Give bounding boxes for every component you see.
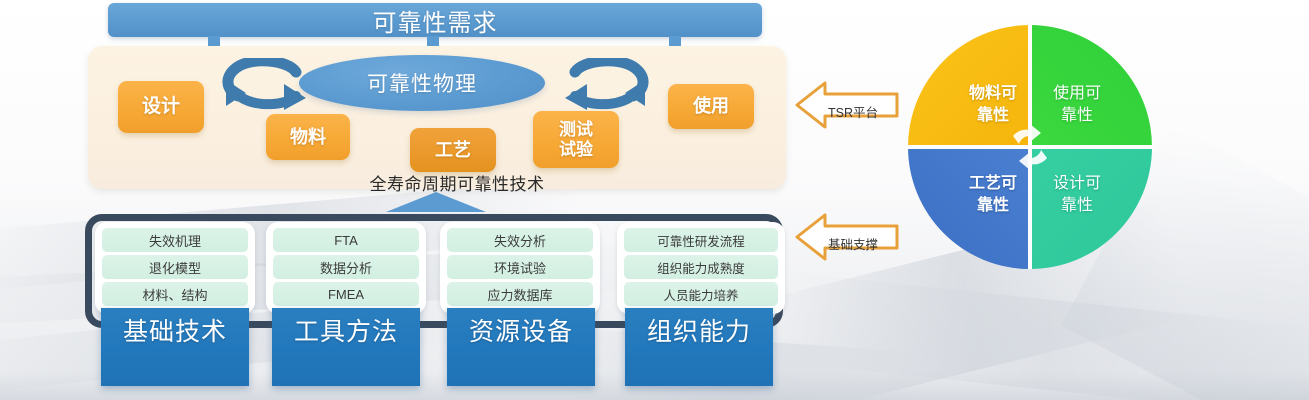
list-item[interactable]: 可靠性研发流程 — [624, 228, 778, 252]
reliability-physics-ellipse[interactable]: 可靠性物理 — [299, 55, 545, 111]
foundation-title-label: 资源设备 — [469, 312, 573, 348]
list-item[interactable]: FMEA — [273, 282, 419, 306]
usage-box-label: 使用 — [693, 96, 729, 116]
ellipse-label: 可靠性物理 — [367, 68, 477, 98]
foundation-title-label: 工具方法 — [294, 312, 398, 348]
foundation-title-label: 组织能力 — [647, 312, 751, 348]
reliability-requirement-banner[interactable]: 可靠性需求 — [108, 3, 762, 37]
foundation-card: FTA 数据分析 FMEA — [266, 222, 426, 314]
foundation-support-label: 基础支撑 — [828, 234, 878, 253]
process-box-label: 工艺 — [435, 140, 471, 160]
wheel-label-process: 工艺可靠性 — [956, 173, 1030, 216]
rotate-left-arrow-icon — [222, 58, 306, 114]
material-box[interactable]: 物料 — [266, 114, 350, 160]
list-item[interactable]: 人员能力培养 — [624, 282, 778, 306]
usage-box[interactable]: 使用 — [668, 84, 754, 129]
list-item[interactable]: 应力数据库 — [447, 282, 593, 306]
foundation-card: 失效机理 退化模型 材料、结构 — [95, 222, 255, 314]
list-item[interactable]: 材料、结构 — [102, 282, 248, 306]
foundation-title-resources-equipment[interactable]: 资源设备 — [447, 308, 595, 386]
foundation-card: 可靠性研发流程 组织能力成熟度 人员能力培养 — [617, 222, 785, 314]
tsr-platform-callout[interactable]: TSR平台 — [795, 80, 899, 135]
diagram-canvas: 可靠性需求 可靠性物理 设计 物料 工艺 — [0, 0, 1309, 400]
recycle-icon — [1001, 118, 1059, 176]
list-item[interactable]: FTA — [273, 228, 419, 252]
list-item[interactable]: 组织能力成熟度 — [624, 255, 778, 279]
test-box-label: 测试试验 — [559, 120, 593, 158]
rotate-right-arrow-icon — [565, 58, 649, 114]
process-box[interactable]: 工艺 — [410, 128, 496, 172]
list-item[interactable]: 失效分析 — [447, 228, 593, 252]
list-item[interactable]: 数据分析 — [273, 255, 419, 279]
foundation-title-tools-methods[interactable]: 工具方法 — [272, 308, 420, 386]
foundation-card: 失效分析 环境试验 应力数据库 — [440, 222, 600, 314]
test-box[interactable]: 测试试验 — [533, 111, 619, 168]
foundation-support-callout[interactable]: 基础支撑 — [795, 212, 899, 267]
design-box[interactable]: 设计 — [118, 81, 204, 133]
list-item[interactable]: 失效机理 — [102, 228, 248, 252]
banner-label: 可靠性需求 — [373, 3, 498, 38]
list-item[interactable]: 退化模型 — [102, 255, 248, 279]
foundation-title-label: 基础技术 — [123, 312, 227, 348]
foundation-title-organization-capability[interactable]: 组织能力 — [625, 308, 773, 386]
up-arrow-icon — [386, 192, 486, 216]
design-box-label: 设计 — [142, 96, 180, 117]
tsr-platform-label: TSR平台 — [828, 102, 878, 121]
wheel-label-design: 设计可靠性 — [1040, 173, 1114, 216]
list-item[interactable]: 环境试验 — [447, 255, 593, 279]
reliability-wheel: 物料可靠性 使用可靠性 工艺可靠性 设计可靠性 — [908, 25, 1152, 269]
material-box-label: 物料 — [290, 127, 326, 147]
foundation-title-basic-technology[interactable]: 基础技术 — [101, 308, 249, 386]
